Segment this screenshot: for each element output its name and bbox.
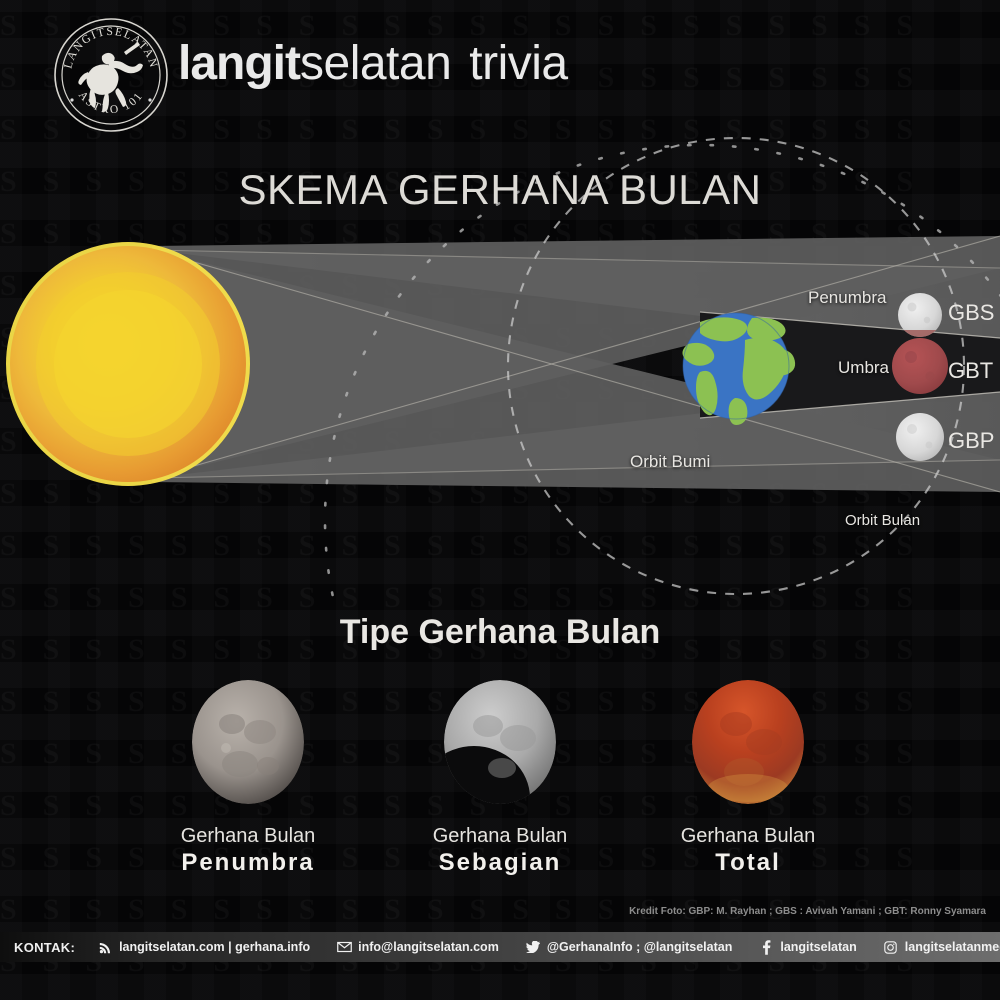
twitter-icon bbox=[525, 939, 541, 955]
wordmark-suffix: trivia bbox=[469, 37, 567, 90]
brand-wordmark: langitselatantrivia bbox=[178, 36, 568, 91]
moon-label-gbt: GBT bbox=[948, 358, 993, 384]
wordmark-light: selatan bbox=[300, 37, 451, 90]
label-orbit-bulan: Orbit Bulan bbox=[845, 512, 920, 529]
footer-item-text: langitselatanmedia bbox=[905, 940, 1000, 954]
moon-label-gbs: GBS bbox=[948, 300, 994, 326]
footer-item-website[interactable]: langitselatan.com | gerhana.info bbox=[97, 939, 310, 955]
moon-label-gbp: GBP bbox=[948, 428, 994, 454]
langitselatan-seal-logo[interactable]: LANGITSELATAN ASTRO 101 bbox=[52, 16, 170, 134]
label-orbit-bumi: Orbit Bumi bbox=[630, 452, 710, 472]
sun bbox=[6, 242, 250, 486]
rss-icon bbox=[97, 939, 113, 955]
footer-item-text: langitselatan bbox=[780, 940, 856, 954]
footer-item-email[interactable]: info@langitselatan.com bbox=[336, 939, 499, 955]
moon-gbt bbox=[892, 338, 948, 394]
footer-item-text: langitselatan.com | gerhana.info bbox=[119, 940, 310, 954]
wordmark-bold: langit bbox=[178, 37, 300, 90]
type-kind: Total bbox=[618, 848, 878, 878]
moon-gbp bbox=[896, 413, 944, 461]
type-kind: Sebagian bbox=[370, 848, 630, 878]
kontak-label: KONTAK: bbox=[14, 940, 75, 955]
footer-item-instagram[interactable]: langitselatanmedia bbox=[883, 939, 1000, 955]
infographic-page: SSSSSSSSSSSSSSSSSSSSSS SSSSSSSSSSSSSSSSS… bbox=[0, 0, 1000, 1000]
photo-credit: Kredit Foto: GBP: M. Rayhan ; GBS : Aviv… bbox=[0, 906, 986, 917]
label-penumbra: Penumbra bbox=[808, 288, 886, 308]
type-card-sebagian: Gerhana Bulan Sebagian bbox=[370, 680, 630, 878]
type-card-total: Gerhana Bulan Total bbox=[618, 680, 878, 878]
facebook-icon bbox=[758, 939, 774, 955]
label-umbra: Umbra bbox=[838, 358, 889, 378]
partial-eclipse-moon-photo bbox=[444, 680, 556, 804]
page-title: SKEMA GERHANA BULAN bbox=[0, 166, 1000, 214]
type-name: Gerhana Bulan bbox=[618, 826, 878, 848]
type-kind: Penumbra bbox=[118, 848, 378, 878]
footer-item-twitter[interactable]: @GerhanaInfo ; @langitselatan bbox=[525, 939, 733, 955]
type-name: Gerhana Bulan bbox=[370, 826, 630, 848]
instagram-icon bbox=[883, 939, 899, 955]
total-eclipse-blood-moon-photo bbox=[692, 680, 804, 804]
header: LANGITSELATAN ASTRO 101 langitselatantri… bbox=[0, 0, 1000, 140]
contact-footer: KONTAK: langitselatan.com | gerhana.info… bbox=[0, 932, 1000, 962]
footer-item-facebook[interactable]: langitselatan bbox=[758, 939, 856, 955]
penumbral-eclipse-moon-photo bbox=[192, 680, 304, 804]
envelope-icon bbox=[336, 939, 352, 955]
types-section-title: Tipe Gerhana Bulan bbox=[0, 613, 1000, 652]
footer-item-text: @GerhanaInfo ; @langitselatan bbox=[547, 940, 733, 954]
type-card-penumbra: Gerhana Bulan Penumbra bbox=[118, 680, 378, 878]
type-name: Gerhana Bulan bbox=[118, 826, 378, 848]
footer-item-text: info@langitselatan.com bbox=[358, 940, 499, 954]
seal-bottom-text: ASTRO 101 bbox=[76, 89, 146, 116]
